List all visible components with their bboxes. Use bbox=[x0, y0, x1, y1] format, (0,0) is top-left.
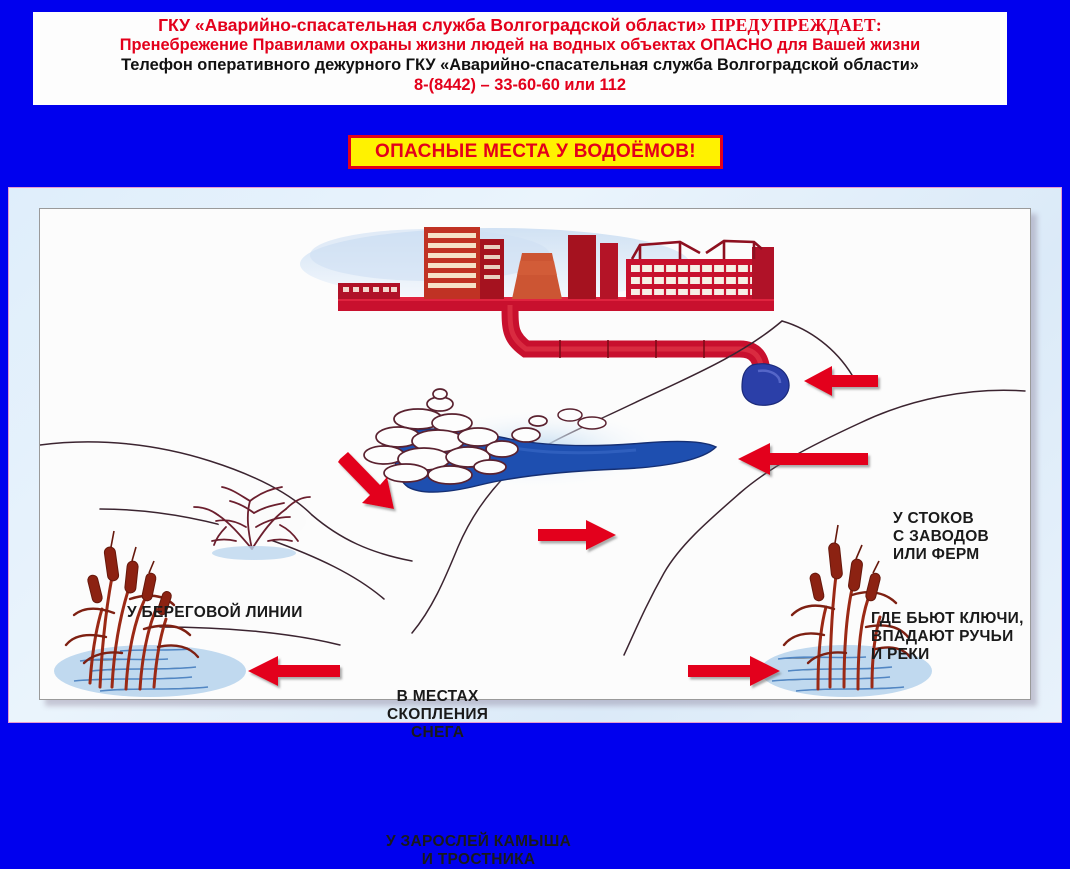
label-где-бьют-ключи: ГДЕ БЬЮТ КЛЮЧИ, ВПАДАЮТ РУЧЬИ И РЕКИ bbox=[871, 610, 1024, 664]
label-где-бьют-ключи-line-2: ВПАДАЮТ РУЧЬИ bbox=[871, 628, 1024, 646]
label-где-бьют-ключи-line-3: И РЕКИ bbox=[871, 646, 1024, 664]
label-в-местах-скопления-снега: В МЕСТАХ СКОПЛЕНИЯ СНЕГА bbox=[387, 688, 488, 742]
label-у-зарослей-камыша-line-2: И ТРОСТНИКА bbox=[386, 851, 571, 869]
label-в-местах-скопления-снега-line-1: В МЕСТАХ bbox=[387, 688, 488, 706]
label-у-зарослей-камыша: У ЗАРОСЛЕЙ КАМЫША И ТРОСТНИКА bbox=[386, 833, 571, 869]
header-line-1: ГКУ «Аварийно-спасательная служба Волгог… bbox=[33, 15, 1007, 36]
label-у-береговой-линии: У БЕРЕГОВОЙ ЛИНИИ bbox=[127, 604, 303, 622]
shrub-water-base bbox=[212, 546, 296, 560]
header-phone-line: 8-(8442) – 33-60-60 или 112 bbox=[33, 76, 1007, 96]
label-в-местах-скопления-снега-line-2: СКОПЛЕНИЯ bbox=[387, 706, 488, 724]
label-у-стоков-line-1: У СТОКОВ bbox=[893, 510, 989, 528]
outfall-water-spot bbox=[742, 364, 789, 406]
label-где-бьют-ключи-line-1: ГДЕ БЬЮТ КЛЮЧИ, bbox=[871, 610, 1024, 628]
poster-title-label: ОПАСНЫЕ МЕСТА У ВОДОЁМОВ! bbox=[375, 141, 696, 163]
label-у-стоков-line-2: С ЗАВОДОВ bbox=[893, 528, 989, 546]
label-у-зарослей-камыша-line-1: У ЗАРОСЛЕЙ КАМЫША bbox=[386, 833, 571, 851]
label-у-береговой-линии-line-1: У БЕРЕГОВОЙ ЛИНИИ bbox=[127, 604, 303, 622]
warning-header-banner: ГКУ «Аварийно-спасательная служба Волгог… bbox=[33, 12, 1007, 105]
header-line-1-emphasis: ПРЕДУПРЕЖДАЕТ: bbox=[711, 15, 882, 35]
label-у-стоков-line-3: ИЛИ ФЕРМ bbox=[893, 546, 989, 564]
header-line-1-main: ГКУ «Аварийно-спасательная служба Волгог… bbox=[158, 15, 711, 35]
label-у-стоков: У СТОКОВ С ЗАВОДОВ ИЛИ ФЕРМ bbox=[893, 510, 989, 564]
poster-title-plate: ОПАСНЫЕ МЕСТА У ВОДОЁМОВ! bbox=[348, 135, 723, 169]
header-line-2: Пренебрежение Правилами охраны жизни люд… bbox=[33, 36, 1007, 56]
label-в-местах-скопления-снега-line-3: СНЕГА bbox=[387, 724, 488, 742]
header-line-3: Телефон оперативного дежурного ГКУ «Авар… bbox=[33, 56, 1007, 76]
poster-frame: У СТОКОВ С ЗАВОДОВ ИЛИ ФЕРМ ГДЕ БЬЮТ КЛЮ… bbox=[8, 187, 1062, 723]
